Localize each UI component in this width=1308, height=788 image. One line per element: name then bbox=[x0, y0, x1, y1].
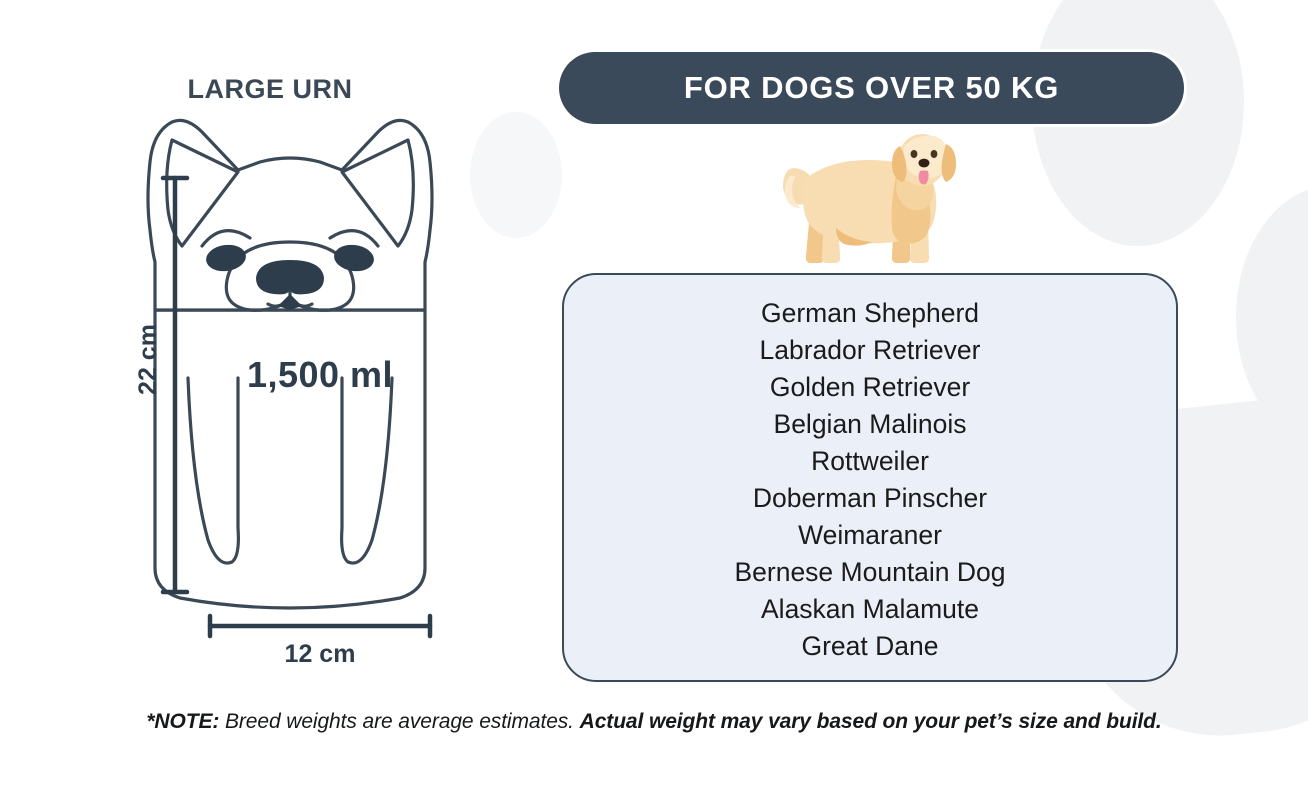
volume-label: 1,500 ml bbox=[185, 354, 455, 396]
banner-label: FOR DOGS OVER 50 KG bbox=[684, 70, 1059, 106]
footnote-prefix: *NOTE: bbox=[146, 710, 219, 733]
height-label: 22 cm bbox=[134, 324, 163, 395]
urn-section: LARGE URN bbox=[0, 0, 540, 700]
width-label: 12 cm bbox=[190, 640, 450, 669]
list-item: Doberman Pinscher bbox=[753, 480, 987, 517]
page-title: LARGE URN bbox=[0, 74, 540, 105]
weight-banner: FOR DOGS OVER 50 KG bbox=[559, 52, 1184, 124]
list-item: Golden Retriever bbox=[770, 369, 970, 406]
width-dimension-line bbox=[200, 612, 440, 640]
list-item: Weimaraner bbox=[798, 517, 942, 554]
footnote-suffix: Actual weight may vary based on your pet… bbox=[580, 710, 1162, 733]
infographic-canvas: LARGE URN bbox=[0, 0, 1308, 788]
footnote-middle: Breed weights are average estimates. bbox=[219, 710, 579, 733]
list-item: Labrador Retriever bbox=[760, 332, 981, 369]
golden-retriever-illustration bbox=[776, 116, 968, 276]
list-item: Rottweiler bbox=[811, 443, 929, 480]
list-item: Belgian Malinois bbox=[774, 406, 967, 443]
breed-list-panel: German Shepherd Labrador Retriever Golde… bbox=[562, 273, 1178, 682]
footnote: *NOTE: Breed weights are average estimat… bbox=[0, 710, 1308, 734]
list-item: German Shepherd bbox=[761, 295, 979, 332]
list-item: Great Dane bbox=[802, 628, 939, 665]
paw-toe-icon bbox=[1236, 186, 1308, 448]
list-item: Alaskan Malamute bbox=[761, 591, 979, 628]
list-item: Bernese Mountain Dog bbox=[734, 554, 1005, 591]
